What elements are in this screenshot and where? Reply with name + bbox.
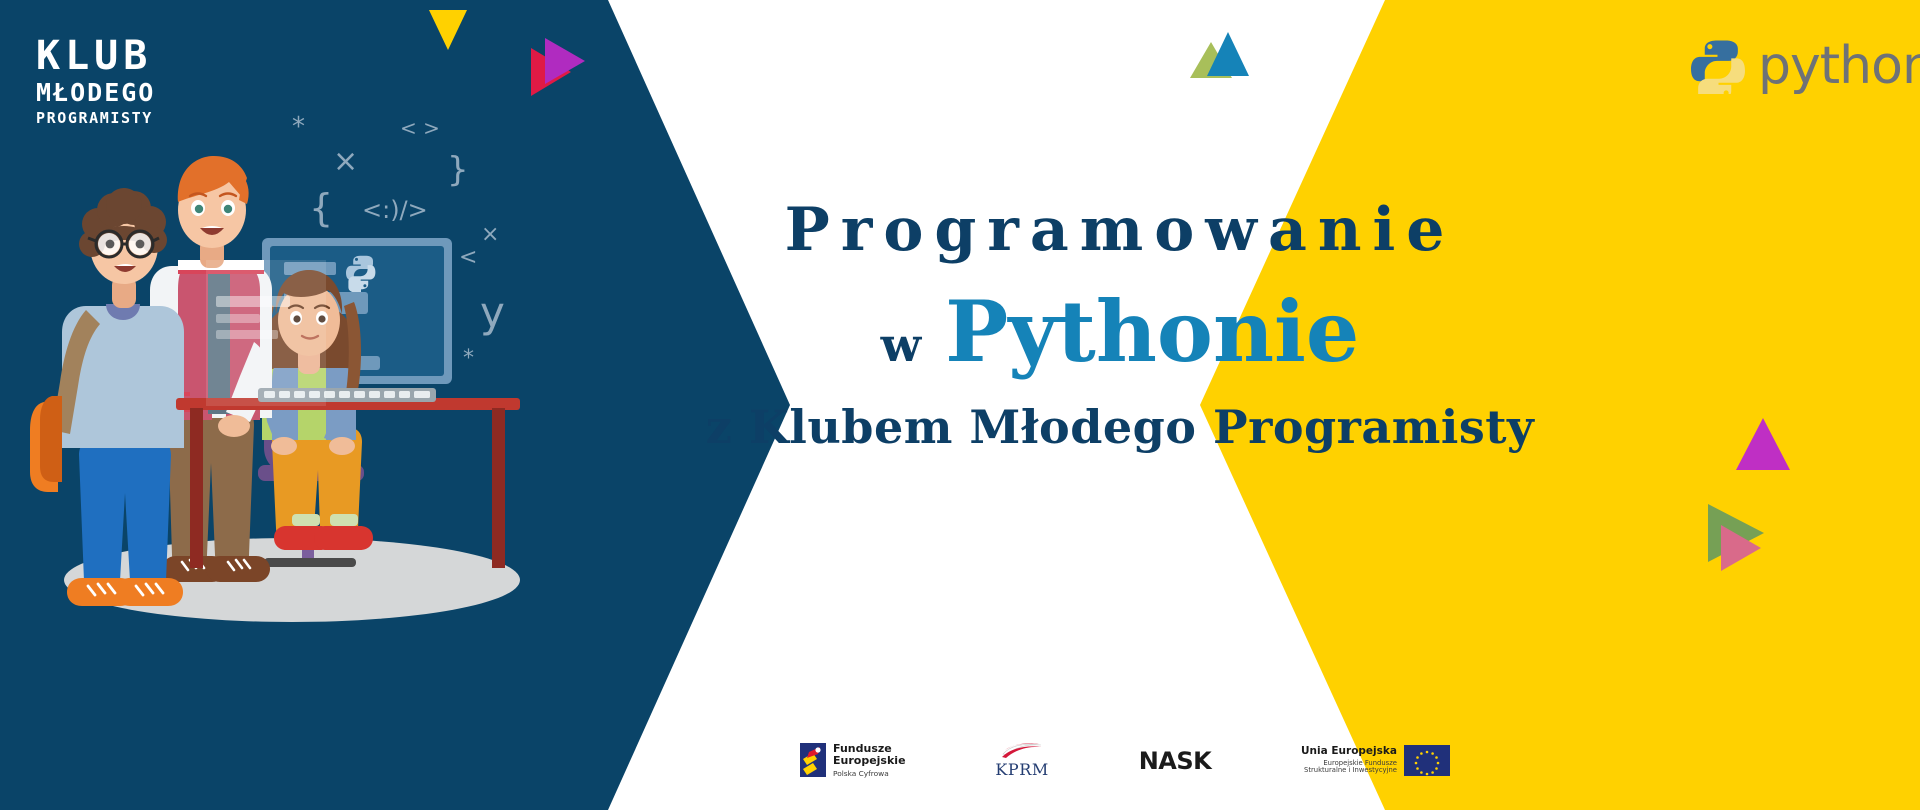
- logo-kprm: KPRM: [995, 742, 1049, 779]
- banner-stage: KLUB MŁODEGO PROGRAMISTY: [0, 0, 1920, 810]
- triangle-purple-right: [545, 38, 585, 84]
- code-symbol-less-than: <: [459, 245, 477, 270]
- students-at-computer-illustration: [30, 110, 550, 710]
- kprm-flag-icon: [999, 742, 1045, 758]
- headline-word-w: w: [881, 318, 923, 373]
- logo-unia-europejska: Unia Europejska Europejskie Fundusze Str…: [1301, 745, 1450, 776]
- eu-line-3: Strukturalne i Inwestycyjne: [1301, 767, 1397, 775]
- triangle-pink-right: [1721, 525, 1761, 571]
- fe-subtitle: Polska Cyfrowa: [833, 770, 906, 778]
- python-wordmark: python: [1758, 40, 1920, 92]
- python-snake-icon: [1690, 38, 1746, 94]
- triangle-yellow-down: [429, 10, 467, 50]
- code-symbol-asterisk-2: *: [463, 346, 474, 371]
- code-symbol-times-2: ×: [481, 222, 499, 247]
- code-symbol-emoticon: <:)/>: [362, 196, 428, 224]
- headline-line-subtitle: z Klubem Młodego Programisty: [700, 402, 1540, 453]
- logo-line-klub: KLUB: [36, 36, 155, 77]
- python-logo: python ™: [1690, 38, 1920, 94]
- triangle-blue-up: [1207, 32, 1249, 76]
- code-symbol-brace-close: }: [447, 150, 469, 190]
- code-symbol-letter-y: y: [480, 288, 505, 337]
- headline-line-w-pythonie: wPythonie: [700, 290, 1540, 374]
- fundusze-europejskie-icon: [800, 743, 826, 777]
- code-symbol-angle-pair: < >: [400, 116, 440, 140]
- code-symbol-brace-open: {: [309, 186, 333, 230]
- triangle-magenta-up: [1736, 418, 1790, 470]
- logo-line-mlodego: MŁODEGO: [36, 77, 155, 108]
- footer-logos: Fundusze Europejskie Polska Cyfrowa KPRM…: [800, 742, 1450, 779]
- code-symbol-asterisk-1: *: [292, 112, 305, 142]
- eu-title: Unia Europejska: [1301, 746, 1397, 758]
- eu-flag-icon: [1404, 745, 1450, 776]
- nask-label: NASK: [1139, 747, 1212, 775]
- headline-word-pythonie: Pythonie: [945, 282, 1359, 381]
- kprm-label: KPRM: [995, 760, 1049, 779]
- fe-title-2: Europejskie: [833, 755, 906, 767]
- logo-fundusze-europejskie: Fundusze Europejskie Polska Cyfrowa: [800, 743, 906, 777]
- headline-line-programowanie: Programowanie: [700, 200, 1540, 260]
- code-symbol-times-1: ×: [333, 144, 358, 179]
- logo-nask: NASK: [1139, 747, 1212, 775]
- headline-block: Programowanie wPythonie z Klubem Młodego…: [700, 200, 1540, 453]
